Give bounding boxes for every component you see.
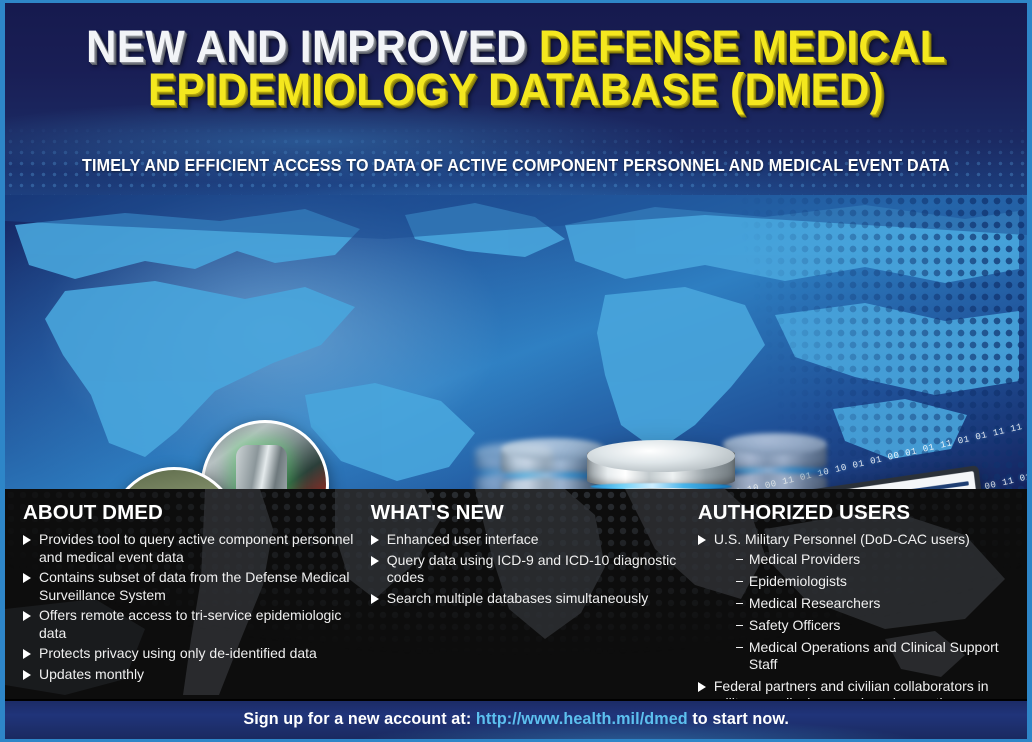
content-columns: ABOUT DMED Provides tool to query active… bbox=[5, 489, 1027, 699]
whats-new-list: Enhanced user interface Query data using… bbox=[371, 531, 688, 607]
footer-url-link[interactable]: http://www.health.mil/dmed bbox=[476, 709, 688, 728]
footer-suffix-text: to start now. bbox=[688, 709, 789, 728]
list-item: Contains subset of data from the Defense… bbox=[23, 569, 363, 604]
content-panel: ABOUT DMED Provides tool to query active… bbox=[5, 489, 1027, 699]
triangle-bullet-icon bbox=[371, 535, 379, 545]
footer-prefix-text: Sign up for a new account at: bbox=[243, 709, 476, 728]
sub-list-item: Medical Operations and Clinical Support … bbox=[736, 639, 1013, 673]
triangle-bullet-icon bbox=[23, 670, 31, 680]
authorized-users-sublist: Medical Providers Epidemiologists Medica… bbox=[736, 551, 1013, 673]
imagery-band: 11 01 00 11 01 01 11 11 01 00 11 00 11 0… bbox=[5, 195, 1027, 489]
list-item-label: Provides tool to query active component … bbox=[39, 531, 353, 565]
sub-list-item: Medical Providers bbox=[736, 551, 1013, 568]
database-cylinder-icon bbox=[723, 433, 827, 489]
sub-list-item: Safety Officers bbox=[736, 617, 1013, 634]
list-item-label: Contains subset of data from the Defense… bbox=[39, 569, 350, 603]
column-heading-about: ABOUT DMED bbox=[23, 501, 363, 525]
dash-bullet-icon bbox=[736, 625, 743, 626]
authorized-users-list: U.S. Military Personnel (DoD-CAC users) … bbox=[698, 531, 1013, 699]
hero-header: NEW AND IMPROVED DEFENSE MEDICAL EPIDEMI… bbox=[5, 3, 1027, 195]
dash-bullet-icon bbox=[736, 603, 743, 604]
footer-bar: Sign up for a new account at: http://www… bbox=[5, 699, 1027, 739]
list-item: Query data using ICD-9 and ICD-10 diagno… bbox=[371, 552, 688, 587]
dash-bullet-icon bbox=[736, 559, 743, 560]
list-item-label: Protects privacy using only de-identifie… bbox=[39, 645, 317, 661]
column-heading-authorized-users: AUTHORIZED USERS bbox=[698, 501, 1013, 525]
list-item-label: Query data using ICD-9 and ICD-10 diagno… bbox=[387, 552, 676, 586]
dash-bullet-icon bbox=[736, 581, 743, 582]
triangle-bullet-icon bbox=[371, 556, 379, 566]
list-item-label: Federal partners and civilian collaborat… bbox=[714, 678, 989, 700]
list-item: Provides tool to query active component … bbox=[23, 531, 363, 566]
triangle-bullet-icon bbox=[698, 535, 706, 545]
column-heading-whats-new: WHAT'S NEW bbox=[371, 501, 688, 525]
footer-call-to-action: Sign up for a new account at: http://www… bbox=[243, 709, 789, 729]
triangle-bullet-icon bbox=[23, 649, 31, 659]
list-item: Updates monthly bbox=[23, 666, 363, 684]
triangle-bullet-icon bbox=[23, 573, 31, 583]
dash-bullet-icon bbox=[736, 647, 743, 648]
about-list: Provides tool to query active component … bbox=[23, 531, 363, 683]
column-whats-new: WHAT'S NEW Enhanced user interface Query… bbox=[363, 501, 688, 699]
list-item: Enhanced user interface bbox=[371, 531, 688, 549]
sub-list-item-label: Medical Providers bbox=[749, 551, 860, 567]
column-about-dmed: ABOUT DMED Provides tool to query active… bbox=[23, 501, 363, 699]
sub-list-item: Epidemiologists bbox=[736, 573, 1013, 590]
list-item-label: Search multiple databases simultaneously bbox=[387, 590, 648, 606]
triangle-bullet-icon bbox=[371, 594, 379, 604]
list-item: Search multiple databases simultaneously bbox=[371, 590, 688, 608]
list-item-label: U.S. Military Personnel (DoD-CAC users) bbox=[714, 531, 970, 547]
sub-list-item: Medical Researchers bbox=[736, 595, 1013, 612]
poster-subtitle: TIMELY AND EFFICIENT ACCESS TO DATA OF A… bbox=[46, 155, 986, 176]
laptop-text-lines bbox=[890, 481, 979, 489]
dmed-infographic-poster: NEW AND IMPROVED DEFENSE MEDICAL EPIDEMI… bbox=[0, 0, 1032, 742]
list-item-label: Offers remote access to tri-service epid… bbox=[39, 607, 341, 641]
sub-list-item-label: Safety Officers bbox=[749, 617, 841, 633]
sub-list-item-label: Epidemiologists bbox=[749, 573, 847, 589]
list-item: U.S. Military Personnel (DoD-CAC users) … bbox=[698, 531, 1013, 673]
triangle-bullet-icon bbox=[23, 611, 31, 621]
title-line-1: NEW AND IMPROVED DEFENSE MEDICAL bbox=[41, 25, 991, 68]
column-authorized-users: AUTHORIZED USERS U.S. Military Personnel… bbox=[688, 501, 1013, 699]
database-cylinder-icon bbox=[587, 440, 735, 489]
poster-title: NEW AND IMPROVED DEFENSE MEDICAL EPIDEMI… bbox=[5, 25, 1027, 111]
title-line-2: EPIDEMIOLOGY DATABASE (DMED) bbox=[41, 68, 991, 111]
triangle-bullet-icon bbox=[698, 682, 706, 692]
sub-list-item-label: Medical Operations and Clinical Support … bbox=[749, 639, 999, 672]
list-item: Protects privacy using only de-identifie… bbox=[23, 645, 363, 663]
list-item-label: Updates monthly bbox=[39, 666, 144, 682]
sub-list-item-label: Medical Researchers bbox=[749, 595, 881, 611]
list-item-label: Enhanced user interface bbox=[387, 531, 539, 547]
list-item: Federal partners and civilian collaborat… bbox=[698, 678, 1013, 700]
footer-top-divider bbox=[5, 699, 1027, 701]
list-item: Offers remote access to tri-service epid… bbox=[23, 607, 363, 642]
triangle-bullet-icon bbox=[23, 535, 31, 545]
